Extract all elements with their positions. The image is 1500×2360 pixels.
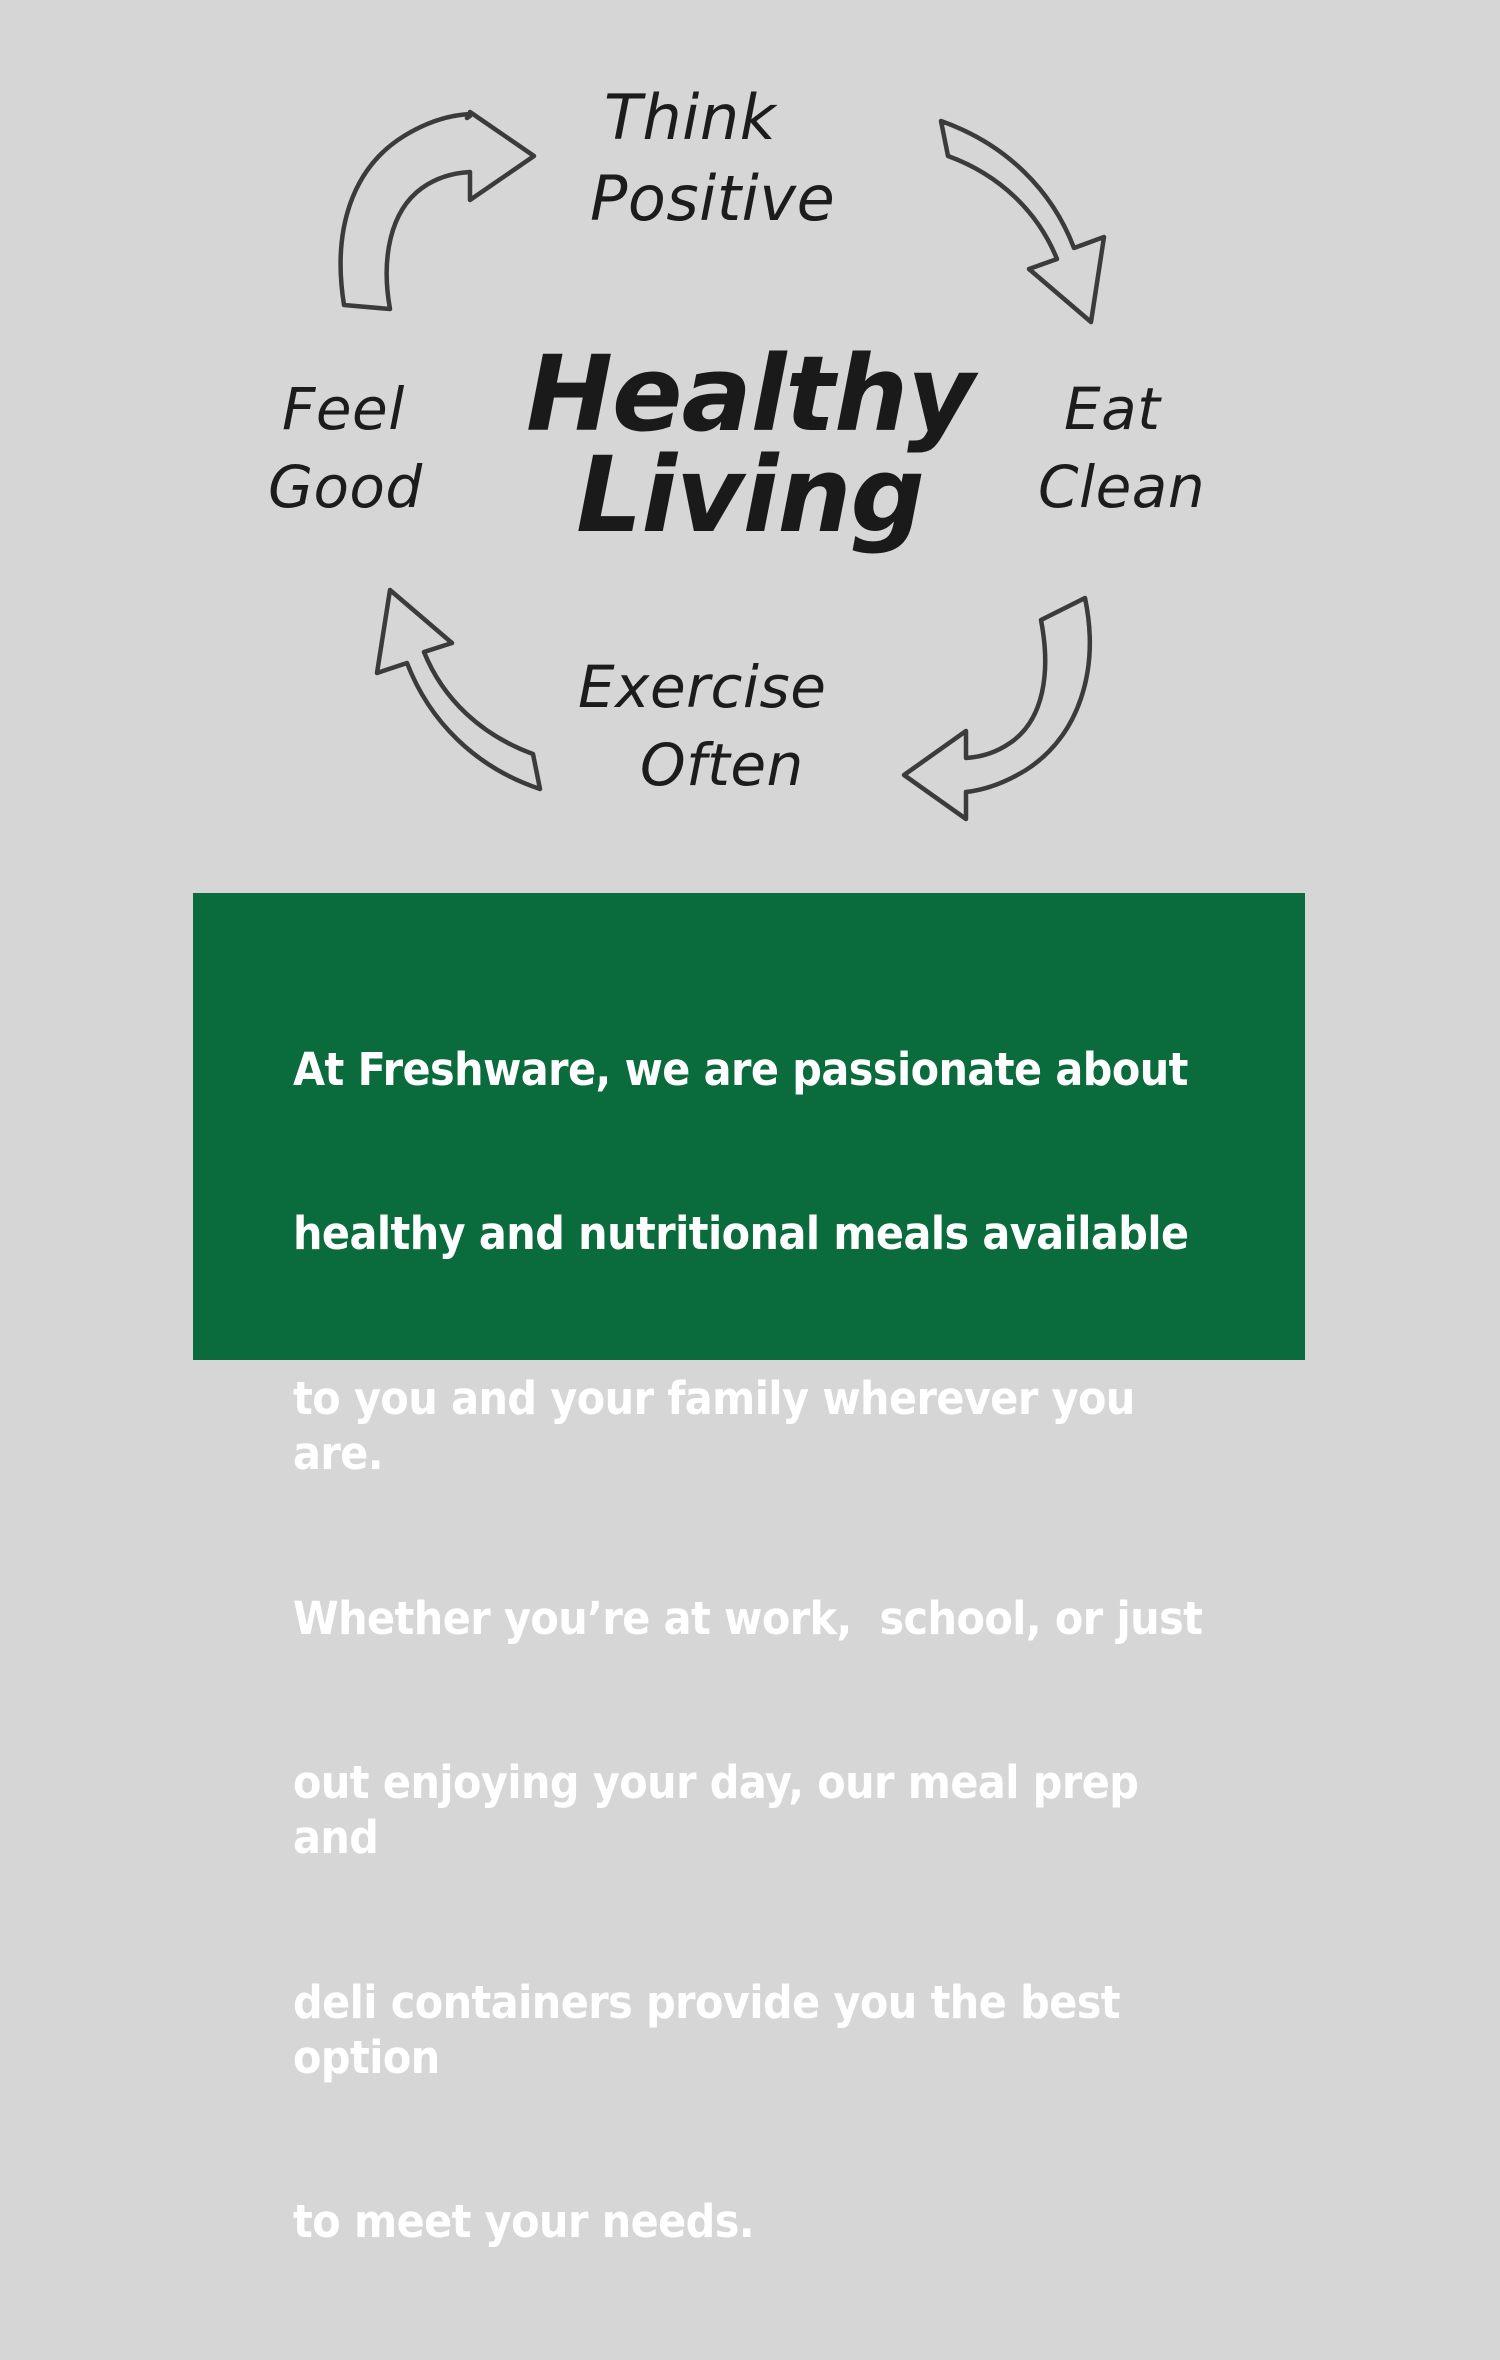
brand-statement-line: Whether you’re at work, school, or just	[293, 1592, 1204, 1647]
arrow-top-left-icon	[341, 112, 534, 309]
cycle-label-feel-good: Feel Good	[268, 372, 478, 524]
cycle-label-feel-good-line2: Good	[268, 450, 478, 524]
healthy-living-cycle-diagram: Healthy Living Think Positive Eat Clean …	[0, 0, 1500, 880]
brand-statement-line: to you and your family wherever you are.	[293, 1372, 1204, 1482]
cycle-label-eat-clean-line2: Clean	[1038, 450, 1268, 524]
page-title: Healthy Living	[470, 345, 1030, 545]
brand-statement-line: At Freshware, we are passionate about	[293, 1043, 1204, 1098]
cycle-label-think-positive-line2: Positive	[590, 159, 920, 238]
cycle-label-exercise-often: Exercise Often	[578, 650, 908, 802]
arrow-bottom-right-icon	[904, 598, 1090, 819]
cycle-label-think-positive-line1: Think	[590, 78, 920, 157]
cycle-label-feel-good-line1: Feel	[268, 372, 478, 446]
page-title-line2: Living	[470, 446, 1030, 545]
cycle-label-exercise-often-line1: Exercise	[578, 650, 908, 724]
brand-statement-line: to meet your needs.	[293, 2195, 1204, 2250]
cycle-label-eat-clean-line1: Eat	[1038, 372, 1268, 446]
poster-canvas: Healthy Living Think Positive Eat Clean …	[0, 0, 1500, 1500]
brand-statement-line: out enjoying your day, our meal prep and	[293, 1756, 1204, 1866]
brand-statement-line: healthy and nutritional meals available	[293, 1207, 1204, 1262]
cycle-label-think-positive: Think Positive	[590, 78, 920, 239]
arrow-bottom-left-icon	[377, 590, 540, 789]
brand-statement-text: At Freshware, we are passionate about he…	[293, 933, 1204, 2360]
cycle-label-exercise-often-line2: Often	[578, 728, 908, 802]
page-title-line1: Healthy	[470, 345, 1030, 444]
arrow-top-right-icon	[941, 121, 1104, 322]
brand-statement-panel: At Freshware, we are passionate about he…	[193, 893, 1305, 1360]
brand-statement-line: deli containers provide you the best opt…	[293, 1976, 1204, 2086]
cycle-label-eat-clean: Eat Clean	[1038, 372, 1268, 524]
